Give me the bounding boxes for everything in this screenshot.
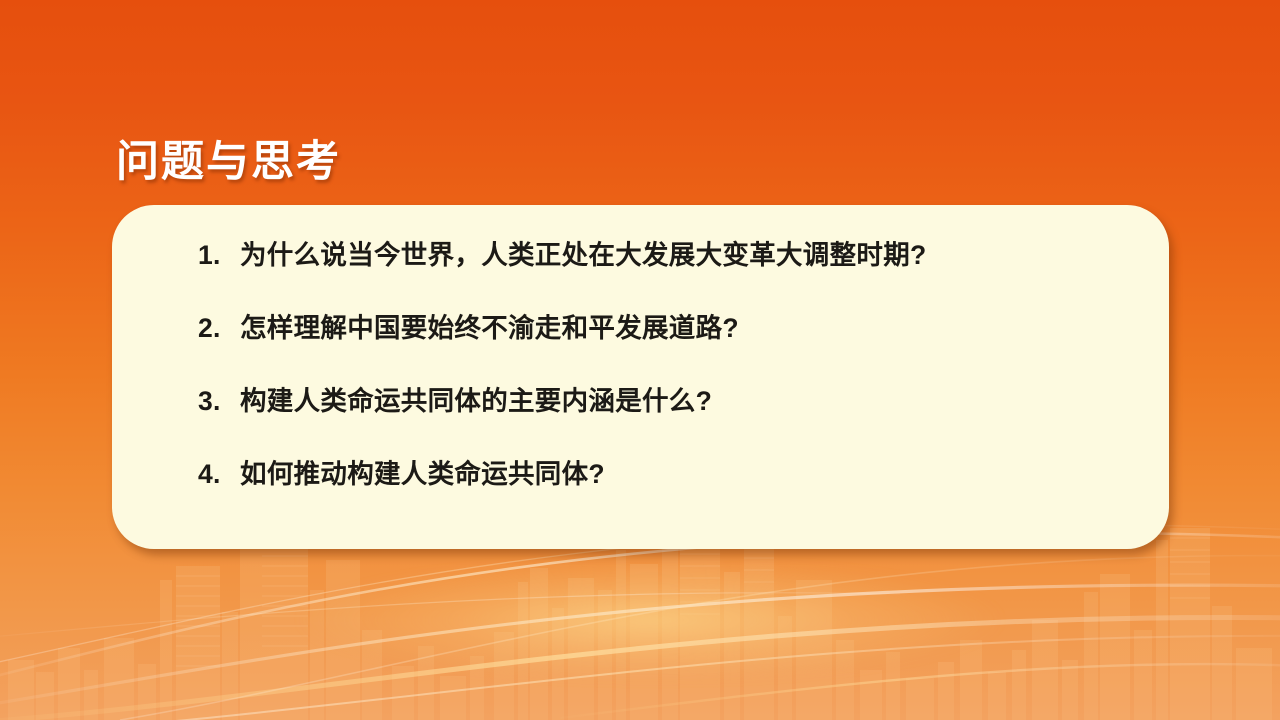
list-item-number: 2. — [198, 312, 240, 345]
list-item-text: 为什么说当今世界，人类正处在大发展大变革大调整时期? — [240, 239, 1125, 272]
list-item-number: 3. — [198, 385, 240, 418]
list-item: 1. 为什么说当今世界，人类正处在大发展大变革大调整时期? — [198, 239, 1125, 272]
list-item: 3. 构建人类命运共同体的主要内涵是什么? — [198, 385, 1125, 418]
warm-glow — [300, 560, 1000, 680]
questions-list: 1. 为什么说当今世界，人类正处在大发展大变革大调整时期? 2. 怎样理解中国要… — [198, 239, 1125, 492]
list-item-number: 4. — [198, 458, 240, 491]
page-title: 问题与思考 — [116, 139, 341, 186]
list-item-text: 怎样理解中国要始终不渝走和平发展道路? — [240, 312, 1125, 345]
list-item-number: 1. — [198, 239, 240, 272]
list-item: 2. 怎样理解中国要始终不渝走和平发展道路? — [198, 312, 1125, 345]
city-skyline-icon — [0, 520, 1280, 720]
presentation-slide: 问题与思考 1. 为什么说当今世界，人类正处在大发展大变革大调整时期? 2. 怎… — [0, 0, 1280, 720]
questions-card: 1. 为什么说当今世界，人类正处在大发展大变革大调整时期? 2. 怎样理解中国要… — [112, 205, 1169, 549]
list-item: 4. 如何推动构建人类命运共同体? — [198, 458, 1125, 491]
list-item-text: 构建人类命运共同体的主要内涵是什么? — [240, 385, 1125, 418]
list-item-text: 如何推动构建人类命运共同体? — [240, 458, 1125, 491]
